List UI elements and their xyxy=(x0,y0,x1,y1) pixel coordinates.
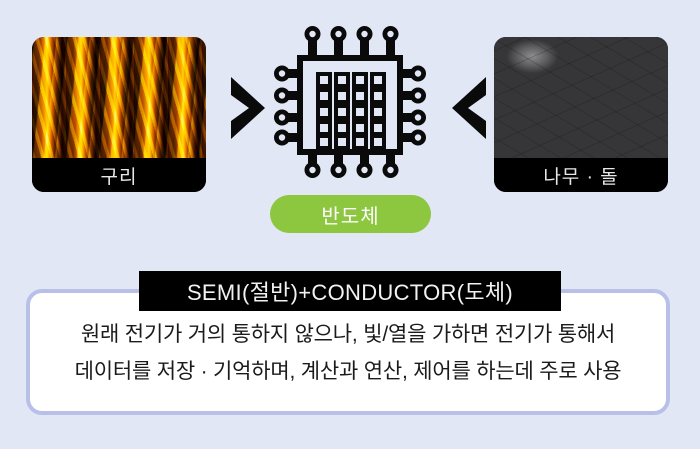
infographic-stage: 구리 xyxy=(0,0,700,449)
stone-label: 나무 · 돌 xyxy=(494,158,668,192)
description-line-1: 원래 전기가 거의 통하지 않으나, 빛/열을 가하면 전기가 통해서 xyxy=(26,316,670,353)
stone-texture xyxy=(494,37,668,158)
chevron-right-icon xyxy=(227,75,267,141)
copper-screws-photo xyxy=(32,37,206,158)
stone-wall-photo xyxy=(494,37,668,158)
microchip-icon xyxy=(266,22,434,182)
copper-label: 구리 xyxy=(32,158,206,192)
copper-texture xyxy=(32,37,206,158)
stone-photo-card: 나무 · 돌 xyxy=(494,37,668,192)
copper-photo-card: 구리 xyxy=(32,37,206,192)
description-text: 원래 전기가 거의 통하지 않으나, 빛/열을 가하면 전기가 통해서 데이터를… xyxy=(26,316,670,390)
description-line-2: 데이터를 저장 · 기억하며, 계산과 연산, 제어를 하는데 주로 사용 xyxy=(26,353,670,390)
semiconductor-badge: 반도체 xyxy=(270,195,431,233)
chevron-left-icon xyxy=(450,75,490,141)
etymology-banner: SEMI(절반)+CONDUCTOR(도체) xyxy=(139,271,561,311)
